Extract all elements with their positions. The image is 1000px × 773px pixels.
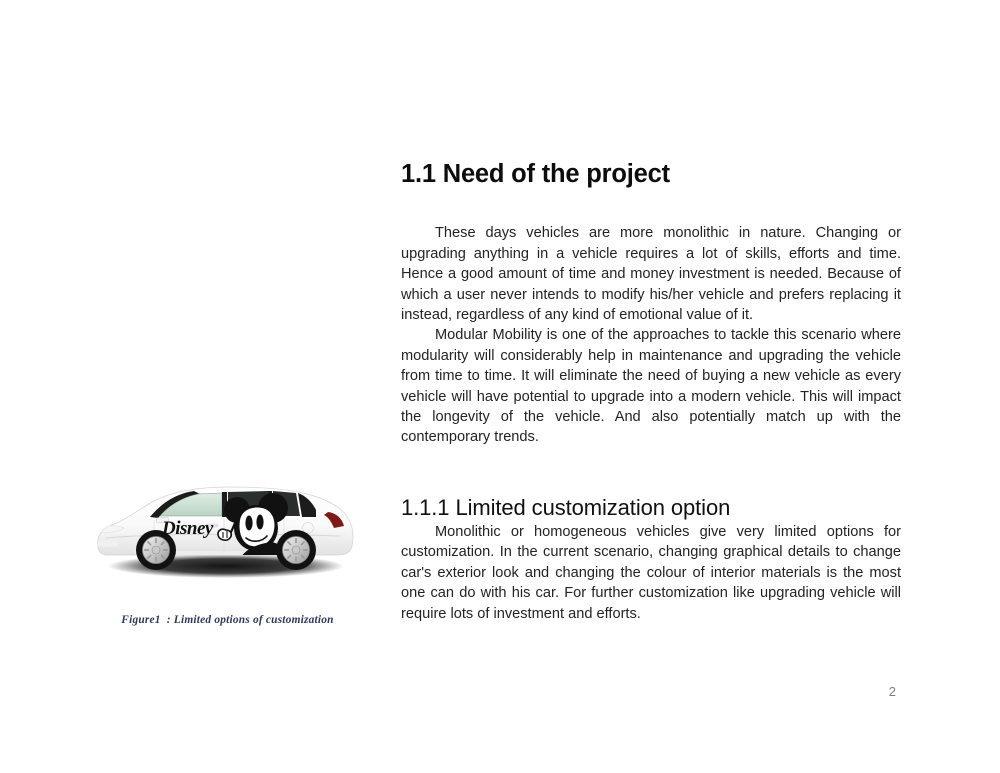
page-number: 2 <box>889 684 896 699</box>
section-paragraph-2: Modular Mobility is one of the approache… <box>401 325 901 447</box>
figure-caption: Figure1 : Limited options of customizati… <box>90 614 365 626</box>
rear-wheel <box>276 530 316 570</box>
front-bumper <box>97 540 118 546</box>
car-image: Disney <box>90 470 360 588</box>
section-spacer <box>401 448 901 495</box>
figure-block: Disney <box>90 470 365 626</box>
text-column: 1.1 Need of the project These days vehic… <box>401 160 901 624</box>
section-paragraph-1: These days vehicles are more monolithic … <box>401 223 901 325</box>
subsection-paragraph-1: Monolithic or homogeneous vehicles give … <box>401 522 901 624</box>
section-heading: 1.1 Need of the project <box>401 160 901 189</box>
document-page: 1.1 Need of the project These days vehic… <box>0 0 1000 773</box>
subsection-heading: 1.1.1 Limited customization option <box>401 495 901 520</box>
front-wheel <box>136 530 176 570</box>
